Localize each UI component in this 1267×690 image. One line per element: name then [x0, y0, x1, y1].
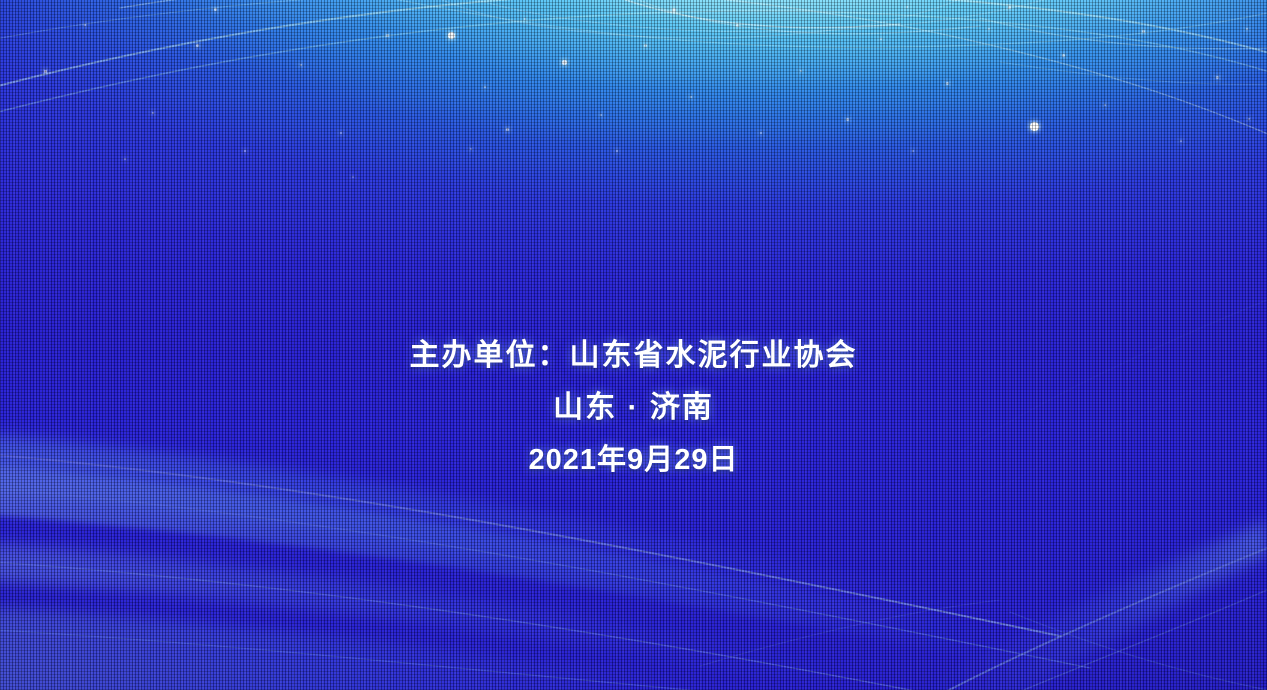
backdrop-content: 山东水泥行业常态化错峰生产工作会议 主办单位：山东省水泥行业协会 山东 · 济南…: [0, 0, 1267, 690]
organizer-line: 主办单位：山东省水泥行业协会: [0, 330, 1267, 382]
conference-title: 山东水泥行业常态化错峰生产工作会议: [0, 162, 1267, 233]
location-line: 山东 · 济南: [0, 382, 1267, 434]
date-line: 2021年9月29日: [0, 434, 1267, 486]
conference-subtitle-block: 主办单位：山东省水泥行业协会 山东 · 济南 2021年9月29日: [0, 330, 1267, 486]
conference-backdrop-screen: 山东水泥行业常态化错峰生产工作会议 主办单位：山东省水泥行业协会 山东 · 济南…: [0, 0, 1267, 690]
